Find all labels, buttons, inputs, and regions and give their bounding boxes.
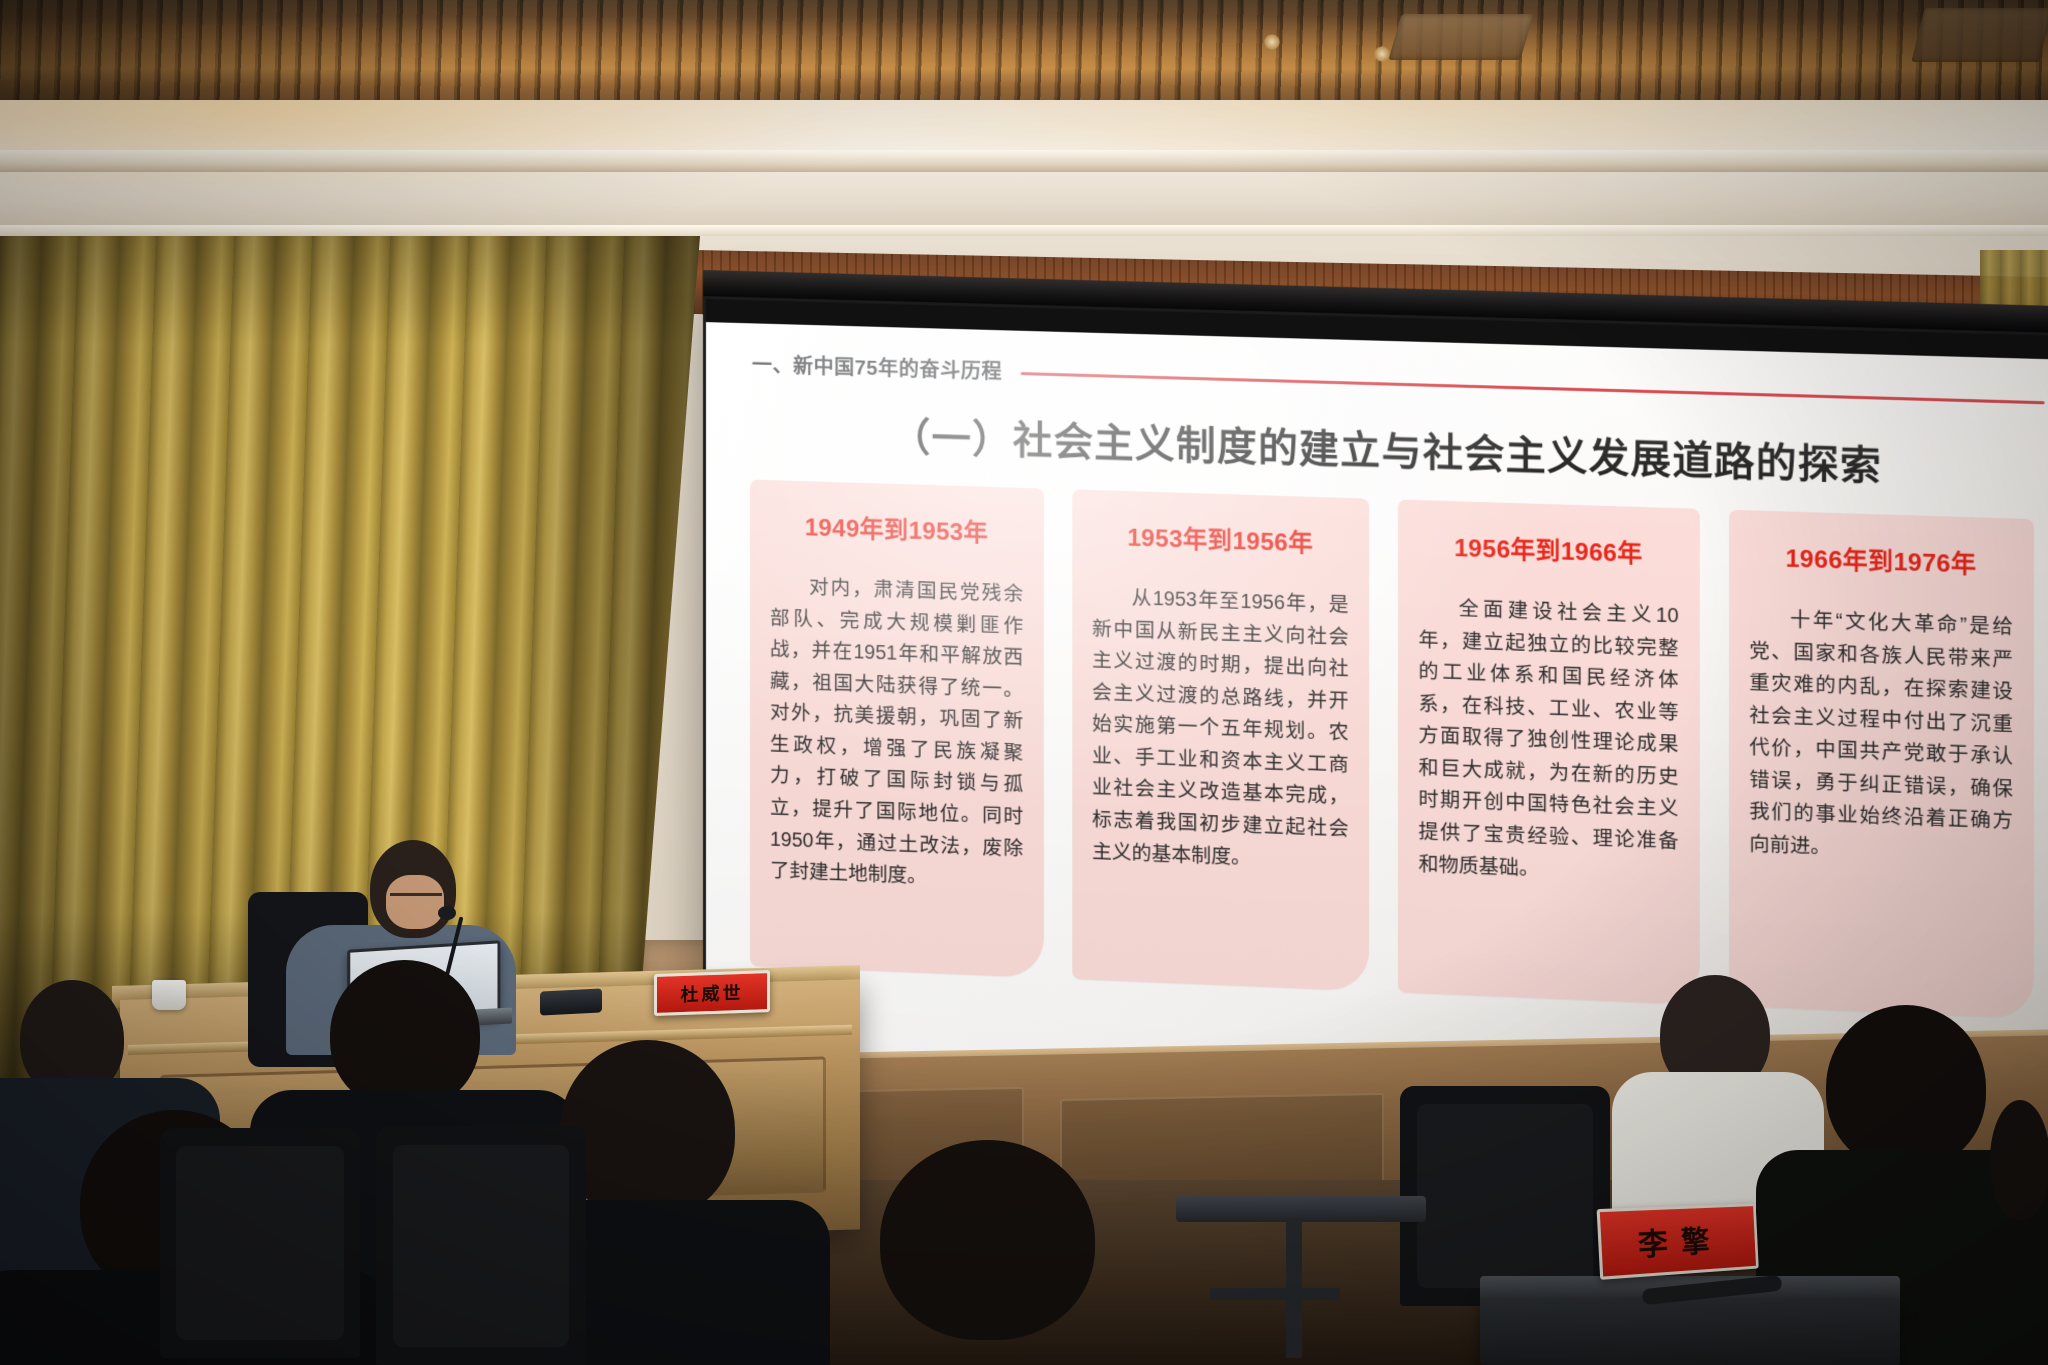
slide-kicker-row: 一、新中国75年的奋斗历程 [752,347,2045,414]
microphone-head [438,906,456,920]
timeline-card: 1956年到1966年 全面建设社会主义10年，建立起独立的比较完整的工业体系和… [1398,499,1699,1004]
timeline-card-body: 全面建设社会主义10年，建立起独立的比较完整的工业体系和国民经济体系，在科技、工… [1418,592,1678,891]
timeline-card-title: 1966年到1976年 [1749,537,2013,581]
timeline-card-group: 1949年到1953年 对内，肃清国民党残余部队、完成大规模剿匪作战，并在195… [750,479,2034,1018]
audience-chair [1400,1086,1610,1306]
timeline-card-body: 十年“文化大革命”是给党、国家和各族人民带来严重灾难的内乱，在探索建设社会主义过… [1749,603,2013,871]
timeline-card-title: 1956年到1966年 [1418,526,1678,570]
cornice-upper [0,150,2048,172]
audience-head [560,1040,735,1220]
timeline-card-body: 从1953年至1956年，是新中国从新民主主义向社会主义过渡的时期，提出向社会主… [1092,582,1349,878]
slide-title: （一）社会主义制度的建立与社会主义发展道路的探索 [706,400,2048,498]
side-table-foot [1210,1288,1340,1300]
audience-chair [160,1128,360,1358]
audience-head [1826,1005,1986,1170]
timeline-card: 1953年到1956年 从1953年至1956年，是新中国从新民主主义向社会主义… [1072,489,1369,991]
microphone-base [540,988,602,1015]
audience-chair [376,1126,586,1365]
screen-surface: 一、新中国75年的奋斗历程 （一）社会主义制度的建立与社会主义发展道路的探索 1… [706,322,2048,1123]
timeline-card-title: 1953年到1956年 [1092,516,1349,560]
audience-head [1990,1100,2048,1220]
audience-head [880,1140,1095,1340]
slide-kicker: 一、新中国75年的奋斗历程 [752,348,1002,384]
timeline-card-body: 对内，肃清国民党残余部队、完成大规模剿匪作战，并在1951年和平解放西藏，祖国大… [770,571,1023,897]
presenter-glasses [390,893,442,908]
water-cup [152,980,186,1010]
attendee-nameplate: 李擎 [1597,1203,1759,1280]
projection-screen: 一、新中国75年的奋斗历程 （一）社会主义制度的建立与社会主义发展道路的探索 1… [703,296,2048,1142]
timeline-card-title: 1949年到1953年 [770,506,1023,549]
slide-kicker-rule [1020,372,2044,404]
audience-head [330,960,480,1110]
timeline-card: 1949年到1953年 对内，肃清国民党残余部队、完成大规模剿匪作战，并在195… [750,479,1043,978]
presentation-slide: 一、新中国75年的奋斗历程 （一）社会主义制度的建立与社会主义发展道路的探索 1… [706,322,2048,1123]
podium-nameplate: 杜威世 [654,970,770,1016]
front-table-body [1480,1300,1900,1365]
timeline-card: 1966年到1976年 十年“文化大革命”是给党、国家和各族人民带来严重灾难的内… [1728,510,2034,1019]
lecture-hall-photo: 一、新中国75年的奋斗历程 （一）社会主义制度的建立与社会主义发展道路的探索 1… [0,0,2048,1365]
